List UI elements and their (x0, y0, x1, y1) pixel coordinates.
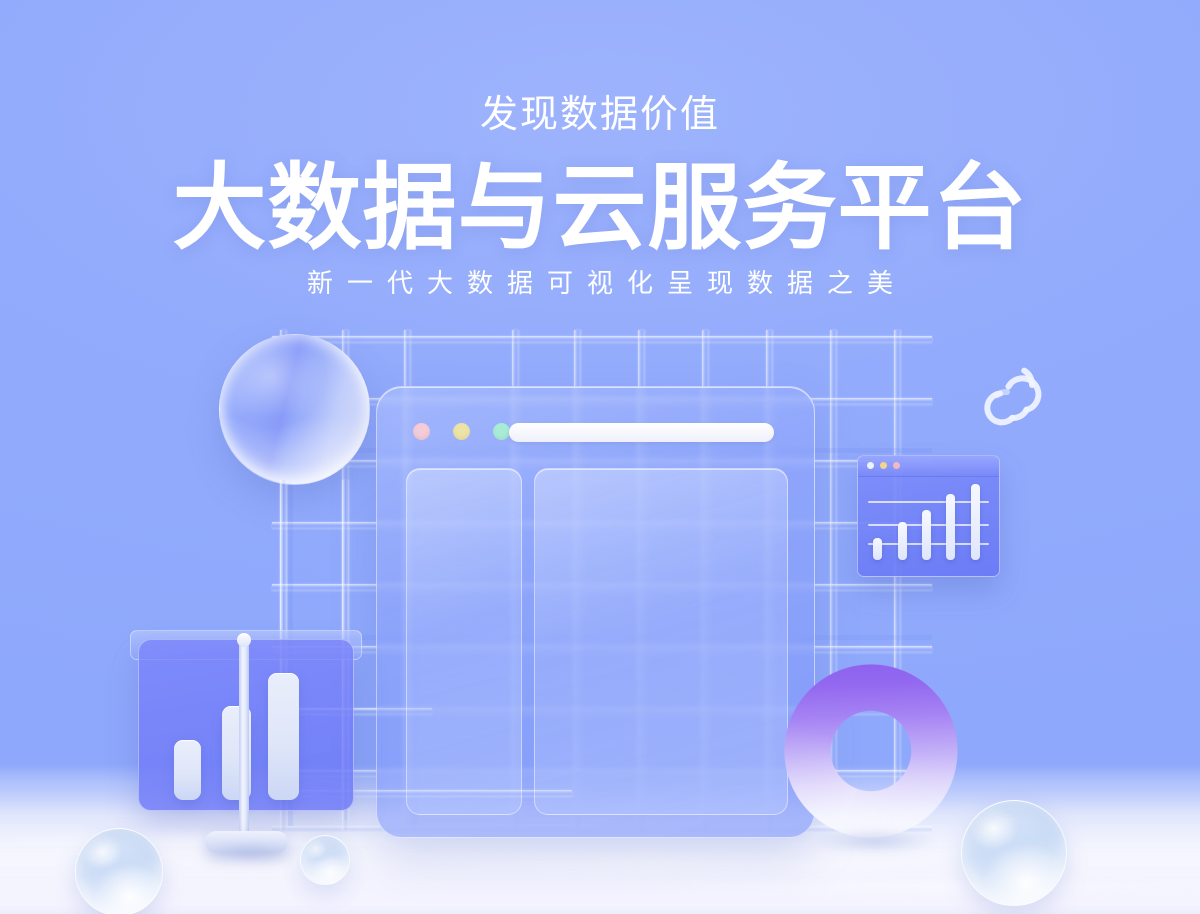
minimize-dot[interactable] (880, 462, 887, 469)
bar-chart-widget[interactable] (857, 455, 1000, 577)
board-bar-3 (268, 673, 299, 800)
floor-streak (300, 860, 1000, 868)
donut-highlight (784, 664, 958, 838)
page-title: 大数据与云服务平台 (0, 134, 1200, 256)
glass-sphere-small (300, 835, 350, 885)
board-stand-pole (239, 641, 249, 847)
glass-sphere-right (961, 800, 1067, 906)
widget-bar-1 (873, 538, 882, 560)
stand-shadow (186, 840, 316, 866)
widget-bar-4 (946, 494, 955, 560)
widget-bar-3 (922, 510, 931, 560)
widget-bar-2 (898, 522, 907, 560)
widget-titlebar (858, 456, 999, 477)
hero-text-block: 发现数据价值 大数据与云服务平台 新一代大数据可视化呈现数据之美 (0, 0, 1200, 296)
glass-sphere-left (75, 828, 163, 914)
donut-chart[interactable] (784, 664, 958, 838)
hero-banner: 发现数据价值 大数据与云服务平台 新一代大数据可视化呈现数据之美 (0, 0, 1200, 914)
hero-subtitle: 新一代大数据可视化呈现数据之美 (0, 256, 1200, 296)
donut-shadow (790, 826, 960, 856)
cloud-icon (975, 363, 1057, 429)
hero-eyebrow: 发现数据价值 (0, 0, 1200, 134)
widget-bar-5 (971, 484, 980, 560)
board-bar-1 (174, 740, 201, 800)
close-dot[interactable] (867, 462, 874, 469)
maximize-dot[interactable] (893, 462, 900, 469)
board-stand-cap (237, 633, 251, 647)
